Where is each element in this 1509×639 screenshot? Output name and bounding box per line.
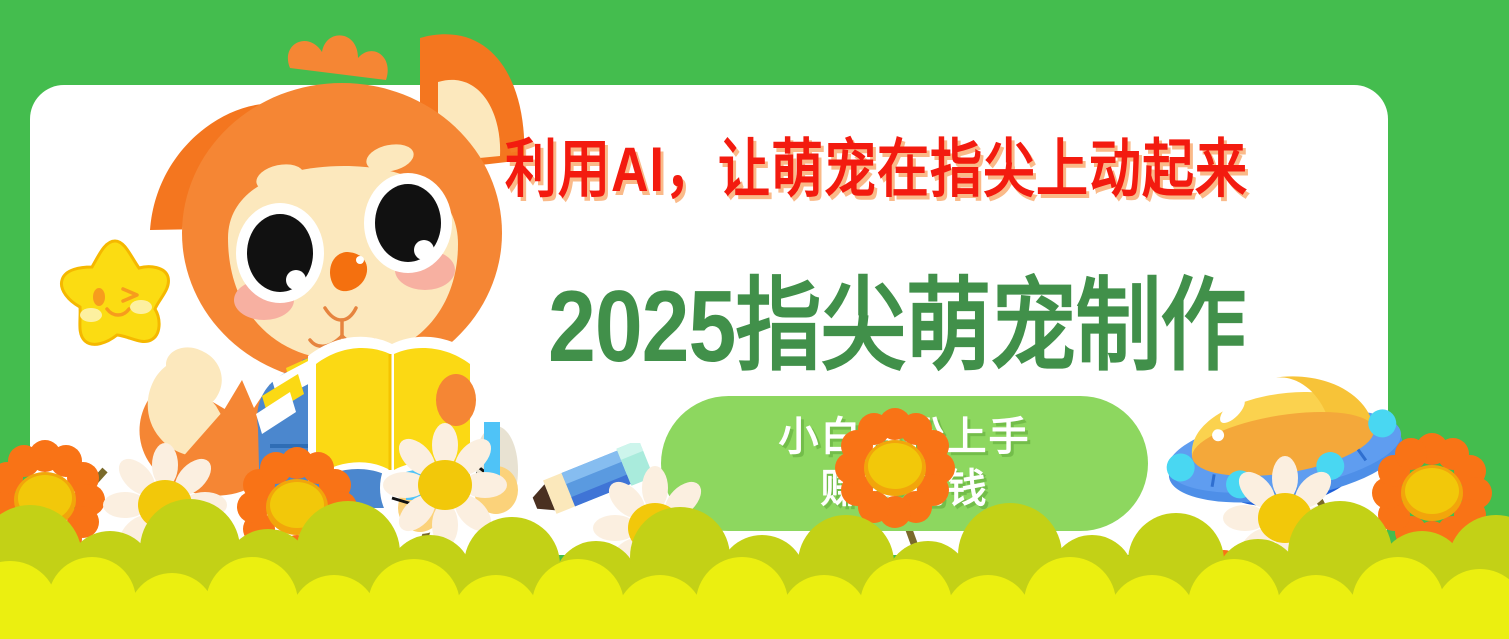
- bush-row: [0, 479, 1509, 639]
- poster-root: 利用AI，让萌宠在指尖上动起来 2025指尖萌宠制作 小白轻松上手 赚零花钱: [0, 0, 1509, 639]
